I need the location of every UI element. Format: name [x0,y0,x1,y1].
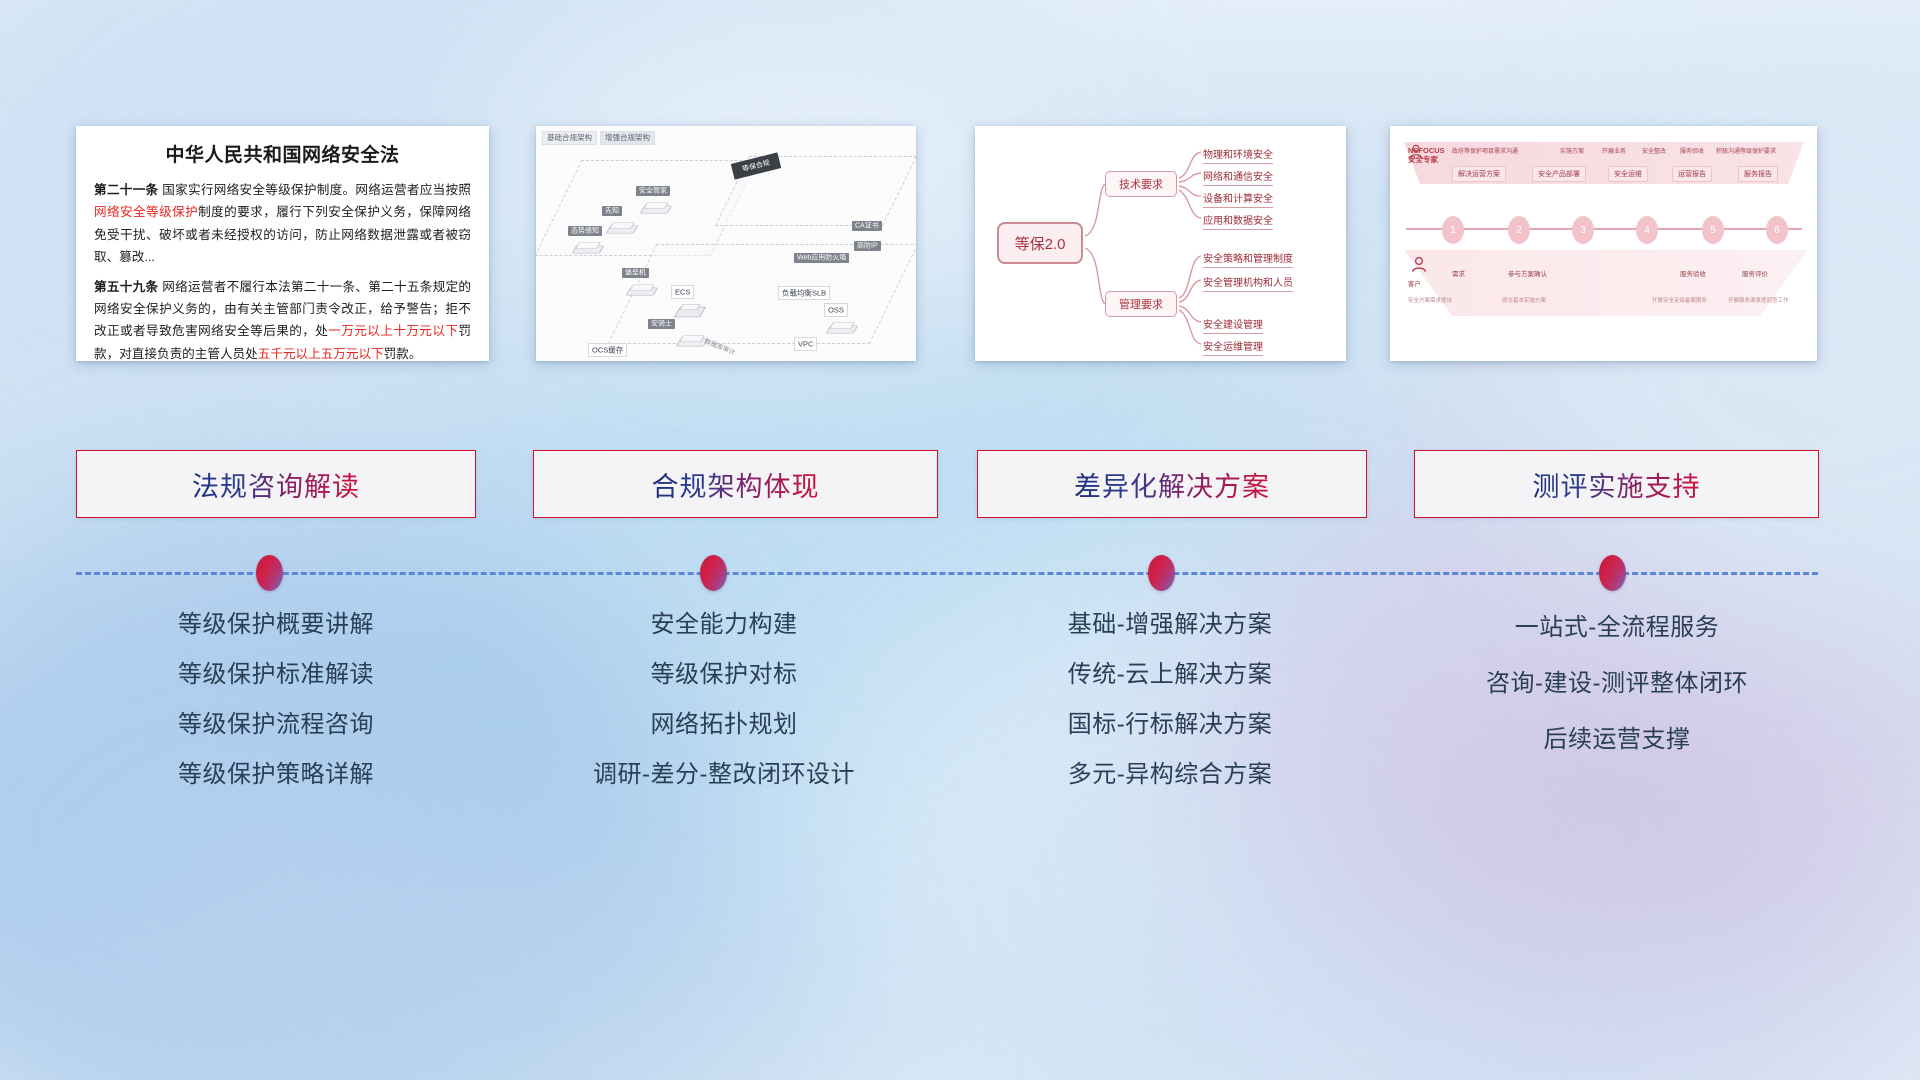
band-tag-1: 实施方案 [1560,146,1584,155]
mindmap-branch-technical: 技术要求 [1105,171,1177,197]
pill-ops-report: 运营报告 [1672,166,1712,182]
list-item: 多元-异构综合方案 [970,750,1370,800]
node-label-anqishi: 安骑士 [648,319,675,329]
sub-label-acceptance: 服务验收 [1680,268,1706,278]
roadmap-bottom-band [1404,250,1808,316]
title-box-label: 法规咨询解读 [192,465,360,504]
list-item: 等级保护流程咨询 [76,700,476,750]
timeline-dot-4[interactable] [1599,555,1626,591]
band-tag-3: 安全整改 [1642,146,1666,155]
title-box-compliance-architecture[interactable]: 合规架构体现 [533,450,938,518]
pill-product-deploy: 安全产品部署 [1532,166,1586,182]
step-4: 4 [1636,216,1658,244]
list-item: 一站式-全流程服务 [1412,600,1822,656]
list-item: 等级保护概要讲解 [76,600,476,650]
sub-note-3: 开展服务满意度调查工作 [1728,296,1789,304]
roadmap-logo: NSFOCUS 安全专家 [1408,146,1445,165]
node-label-xianzhi: 先知 [602,206,622,216]
band-tag-0: 政府等保护项目需求沟通 [1452,146,1518,155]
mindmap-leaf-device-compute: 设备和计算安全 [1203,190,1273,208]
title-box-row: 法规咨询解读 合规架构体现 差异化解决方案 测评实施支持 [0,450,1920,518]
node-label-anti-ddos-ip: 高防IP [854,241,881,251]
detail-column-compliance-architecture: 安全能力构建 等级保护对标 网络拓扑规划 调研-差分-整改闭环设计 [524,600,924,800]
step-5: 5 [1702,216,1724,244]
list-item: 传统-云上解决方案 [970,650,1370,700]
roadmap-timeline [1406,228,1802,230]
customer-label: 客户 [1408,278,1421,288]
list-item: 等级保护对标 [524,650,924,700]
sub-note-1: 提交基本实施方案 [1502,296,1546,304]
sub-label-evaluation: 服务评价 [1742,268,1768,278]
timeline-dot-3[interactable] [1148,555,1175,591]
list-item: 等级保护标准解读 [76,650,476,700]
band-tag-2: 开展业务 [1602,146,1626,155]
node-icon-xianzhi [608,219,634,235]
timeline-dot-2[interactable] [700,555,727,591]
step-6: 6 [1766,216,1788,244]
title-box-differentiated-solution[interactable]: 差异化解决方案 [977,450,1367,518]
timeline-dashed-line [76,572,1818,575]
title-box-assessment-support[interactable]: 测评实施支持 [1414,450,1819,518]
mindmap-leaf-physical-env: 物理和环境安全 [1203,146,1273,164]
mindmap-leaf-app-data: 应用和数据安全 [1203,212,1273,230]
node-label-ocs-cache: OCS缓存 [588,343,627,357]
title-box-label: 测评实施支持 [1533,465,1701,504]
sub-label-plan-confirm: 参与方案确认 [1508,268,1547,278]
law-article-21: 第二十一条 国家实行网络安全等级保护制度。网络运营者应当按照网络安全等级保护制度… [94,179,471,269]
node-label-waf: Web应用防火墙 [794,253,849,263]
mindmap-branch-management: 管理要求 [1105,291,1177,317]
title-box-label: 合规架构体现 [652,465,820,504]
node-icon-situational-awareness [574,239,600,255]
pill-solution-plan: 解决运营方案 [1452,166,1506,182]
mindmap-leaf-org-personnel: 安全管理机构和人员 [1203,274,1293,292]
sub-note-0: 安全方案需求提出 [1408,296,1452,304]
thumbnail-card-cloud-architecture[interactable]: 基础合规架构 增强合规架构 等保合规 安全管家 先知 态 [536,126,916,361]
node-label-situational-awareness: 态势感知 [568,226,602,236]
list-item: 等级保护策略详解 [76,750,476,800]
mindmap-root-node: 等保2.0 [997,222,1083,264]
list-item: 基础-增强解决方案 [970,600,1370,650]
thumbnail-card-law-document[interactable]: 中华人民共和国网络安全法 第二十一条 国家实行网络安全等级保护制度。网络运营者应… [76,126,489,361]
step-3: 3 [1572,216,1594,244]
sub-label-requirement: 需求 [1452,268,1465,278]
mindmap-leaf-network-comm: 网络和通信安全 [1203,168,1273,186]
detail-column-assessment-support: 一站式-全流程服务 咨询-建设-测评整体闭环 后续运营支撑 [1412,600,1822,768]
node-icon-security-housekeeper [642,199,668,215]
node-label-security-housekeeper: 安全管家 [636,186,670,196]
tab-enhanced-compliance[interactable]: 增强合规架构 [600,131,655,145]
node-icon-bastion-host [628,281,654,297]
node-label-bastion-host: 堡垒机 [622,268,649,278]
list-item: 国标-行标解决方案 [970,700,1370,750]
band-tag-5: 积极沟通等级保护要求 [1716,146,1776,155]
detail-column-regulation-consulting: 等级保护概要讲解 等级保护标准解读 等级保护流程咨询 等级保护策略详解 [76,600,476,800]
list-item: 网络拓扑规划 [524,700,924,750]
node-icon-anqishi [678,332,704,348]
architecture-tabs: 基础合规架构 增强合规架构 [542,131,655,145]
timeline-dot-1[interactable] [256,555,283,591]
thumbnail-card-service-roadmap[interactable]: NSFOCUS 安全专家 政府等保护项目需求沟通 实施方案 开展业务 安全整改 … [1390,126,1817,361]
customer-icon [1410,256,1428,274]
mindmap-leaf-construction-mgmt: 安全建设管理 [1203,316,1263,334]
step-2: 2 [1508,216,1530,244]
law-document-title: 中华人民共和国网络安全法 [94,140,471,167]
pill-security-ops: 安全运维 [1608,166,1648,182]
list-item: 安全能力构建 [524,600,924,650]
title-box-label: 差异化解决方案 [1074,465,1270,504]
node-icon-oss [828,319,854,335]
sub-note-2: 开展安全定级备案服务 [1652,296,1707,304]
node-label-oss: OSS [824,303,848,317]
list-item: 调研-差分-整改闭环设计 [524,750,924,800]
node-label-ecs: ECS [671,285,694,299]
title-box-regulation-consulting[interactable]: 法规咨询解读 [76,450,476,518]
node-label-slb: 负载均衡SLB [778,286,830,300]
list-item: 后续运营支撑 [1412,712,1822,768]
tab-basic-compliance[interactable]: 基础合规架构 [542,131,597,145]
band-tag-4: 服务验收 [1680,146,1704,155]
mindmap-leaf-policy-system: 安全策略和管理制度 [1203,250,1293,268]
list-item: 咨询-建设-测评整体闭环 [1412,656,1822,712]
step-1: 1 [1442,216,1464,244]
thumbnail-card-mindmap[interactable]: 等保2.0 技术要求 管理要求 物理和环境安全 网络和通信安全 设备和计算安全 … [975,126,1346,361]
pill-service-report: 服务报告 [1738,166,1778,182]
mindmap-leaf-ops-mgmt: 安全运维管理 [1203,338,1263,356]
node-label-ca-certificate: CA证书 [852,221,882,231]
law-article-59: 第五十九条 网络运营者不履行本法第二十一条、第二十五条规定的网络安全保护义务的，… [94,276,471,361]
detail-column-differentiated-solution: 基础-增强解决方案 传统-云上解决方案 国标-行标解决方案 多元-异构综合方案 [970,600,1370,800]
thumbnail-row: 中华人民共和国网络安全法 第二十一条 国家实行网络安全等级保护制度。网络运营者应… [0,126,1920,361]
node-label-vpc: VPC [794,337,817,351]
